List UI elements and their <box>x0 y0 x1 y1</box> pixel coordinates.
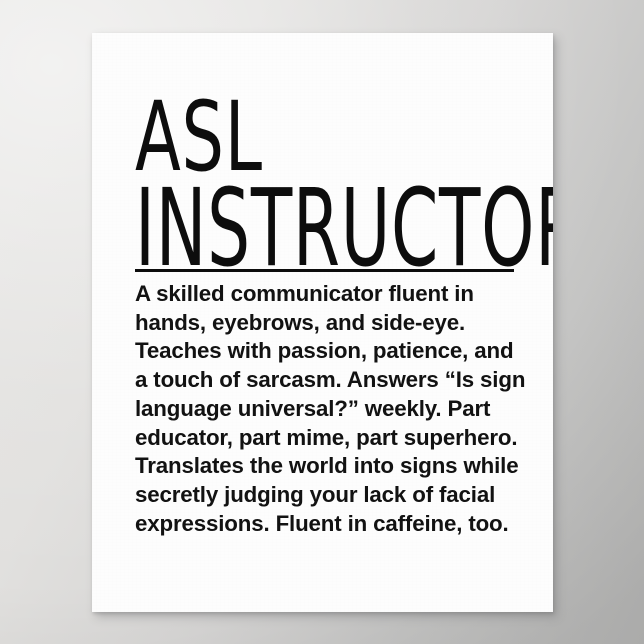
title-divider-rule <box>135 269 514 272</box>
body-line: A skilled communicator fluent in <box>135 280 516 309</box>
poster-body-copy: A skilled communicator fluent in hands, … <box>135 280 516 538</box>
body-line: secretly judging your lack of facial <box>135 481 516 510</box>
poster-title-line-2: INSTRUCTOR <box>135 175 553 282</box>
poster-content: ASL INSTRUCTOR A skilled communicator fl… <box>135 33 514 612</box>
body-line: Translates the world into signs while <box>135 452 516 481</box>
body-line: Teaches with passion, patience, and <box>135 337 516 366</box>
poster-artwork[interactable]: ASL INSTRUCTOR A skilled communicator fl… <box>92 33 553 612</box>
body-line: expressions. Fluent in caffeine, too. <box>135 510 516 539</box>
body-line: language universal?” weekly. Part <box>135 395 516 424</box>
body-line: educator, part mime, part superhero. <box>135 424 516 453</box>
poster-scene: ASL INSTRUCTOR A skilled communicator fl… <box>0 0 644 644</box>
body-line: hands, eyebrows, and side-eye. <box>135 309 516 338</box>
body-line: a touch of sarcasm. Answers “Is sign <box>135 366 516 395</box>
